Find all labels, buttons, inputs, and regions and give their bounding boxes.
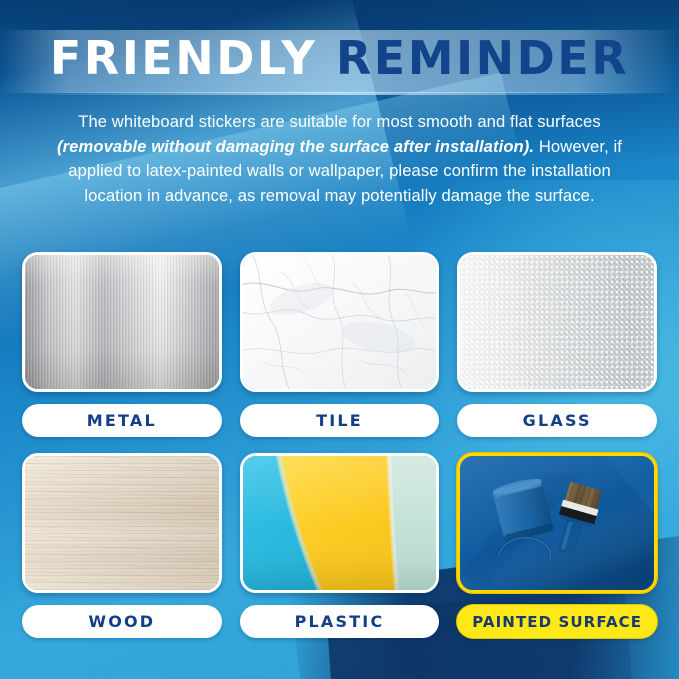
surface-thumbnail-glass[interactable] bbox=[457, 252, 657, 392]
surface-grid: METAL bbox=[22, 252, 657, 638]
poster-canvas: FRIENDLY REMINDER The whiteboard sticker… bbox=[0, 0, 679, 679]
page-title: FRIENDLY REMINDER bbox=[0, 28, 679, 88]
body-text-emphasis: (removable without damaging the surface … bbox=[57, 137, 534, 156]
glass-texture-image bbox=[460, 255, 654, 389]
marble-texture-image bbox=[243, 255, 437, 389]
surface-label-wood[interactable]: WOOD bbox=[22, 605, 222, 638]
surface-label-glass[interactable]: GLASS bbox=[457, 404, 657, 437]
painted-surface-texture-image bbox=[460, 456, 654, 590]
metal-texture-image bbox=[25, 255, 219, 389]
surface-label-tile[interactable]: TILE bbox=[240, 404, 440, 437]
surface-label-painted-surface[interactable]: PAINTED SURFACE bbox=[457, 605, 657, 638]
wood-texture-image bbox=[25, 456, 219, 590]
surface-label-metal[interactable]: METAL bbox=[22, 404, 222, 437]
surface-thumbnail-wood[interactable] bbox=[22, 453, 222, 593]
surface-card-tile[interactable]: TILE bbox=[240, 252, 440, 437]
surface-thumbnail-painted-surface[interactable] bbox=[457, 453, 657, 593]
plastic-texture-image bbox=[243, 456, 437, 590]
surface-card-painted-surface[interactable]: PAINTED SURFACE bbox=[457, 453, 657, 638]
surface-card-plastic[interactable]: PLASTIC bbox=[240, 453, 440, 638]
surface-card-glass[interactable]: GLASS bbox=[457, 252, 657, 437]
surface-card-wood[interactable]: WOOD bbox=[22, 453, 222, 638]
body-paragraph: The whiteboard stickers are suitable for… bbox=[46, 110, 633, 208]
title-word-reminder: REMINDER bbox=[336, 31, 629, 85]
surface-label-plastic[interactable]: PLASTIC bbox=[240, 605, 440, 638]
title-word-friendly: FRIENDLY bbox=[50, 31, 318, 85]
surface-thumbnail-plastic[interactable] bbox=[240, 453, 440, 593]
surface-thumbnail-metal[interactable] bbox=[22, 252, 222, 392]
body-text-part-1: The whiteboard stickers are suitable for… bbox=[78, 112, 601, 131]
surface-thumbnail-tile[interactable] bbox=[240, 252, 440, 392]
surface-card-metal[interactable]: METAL bbox=[22, 252, 222, 437]
